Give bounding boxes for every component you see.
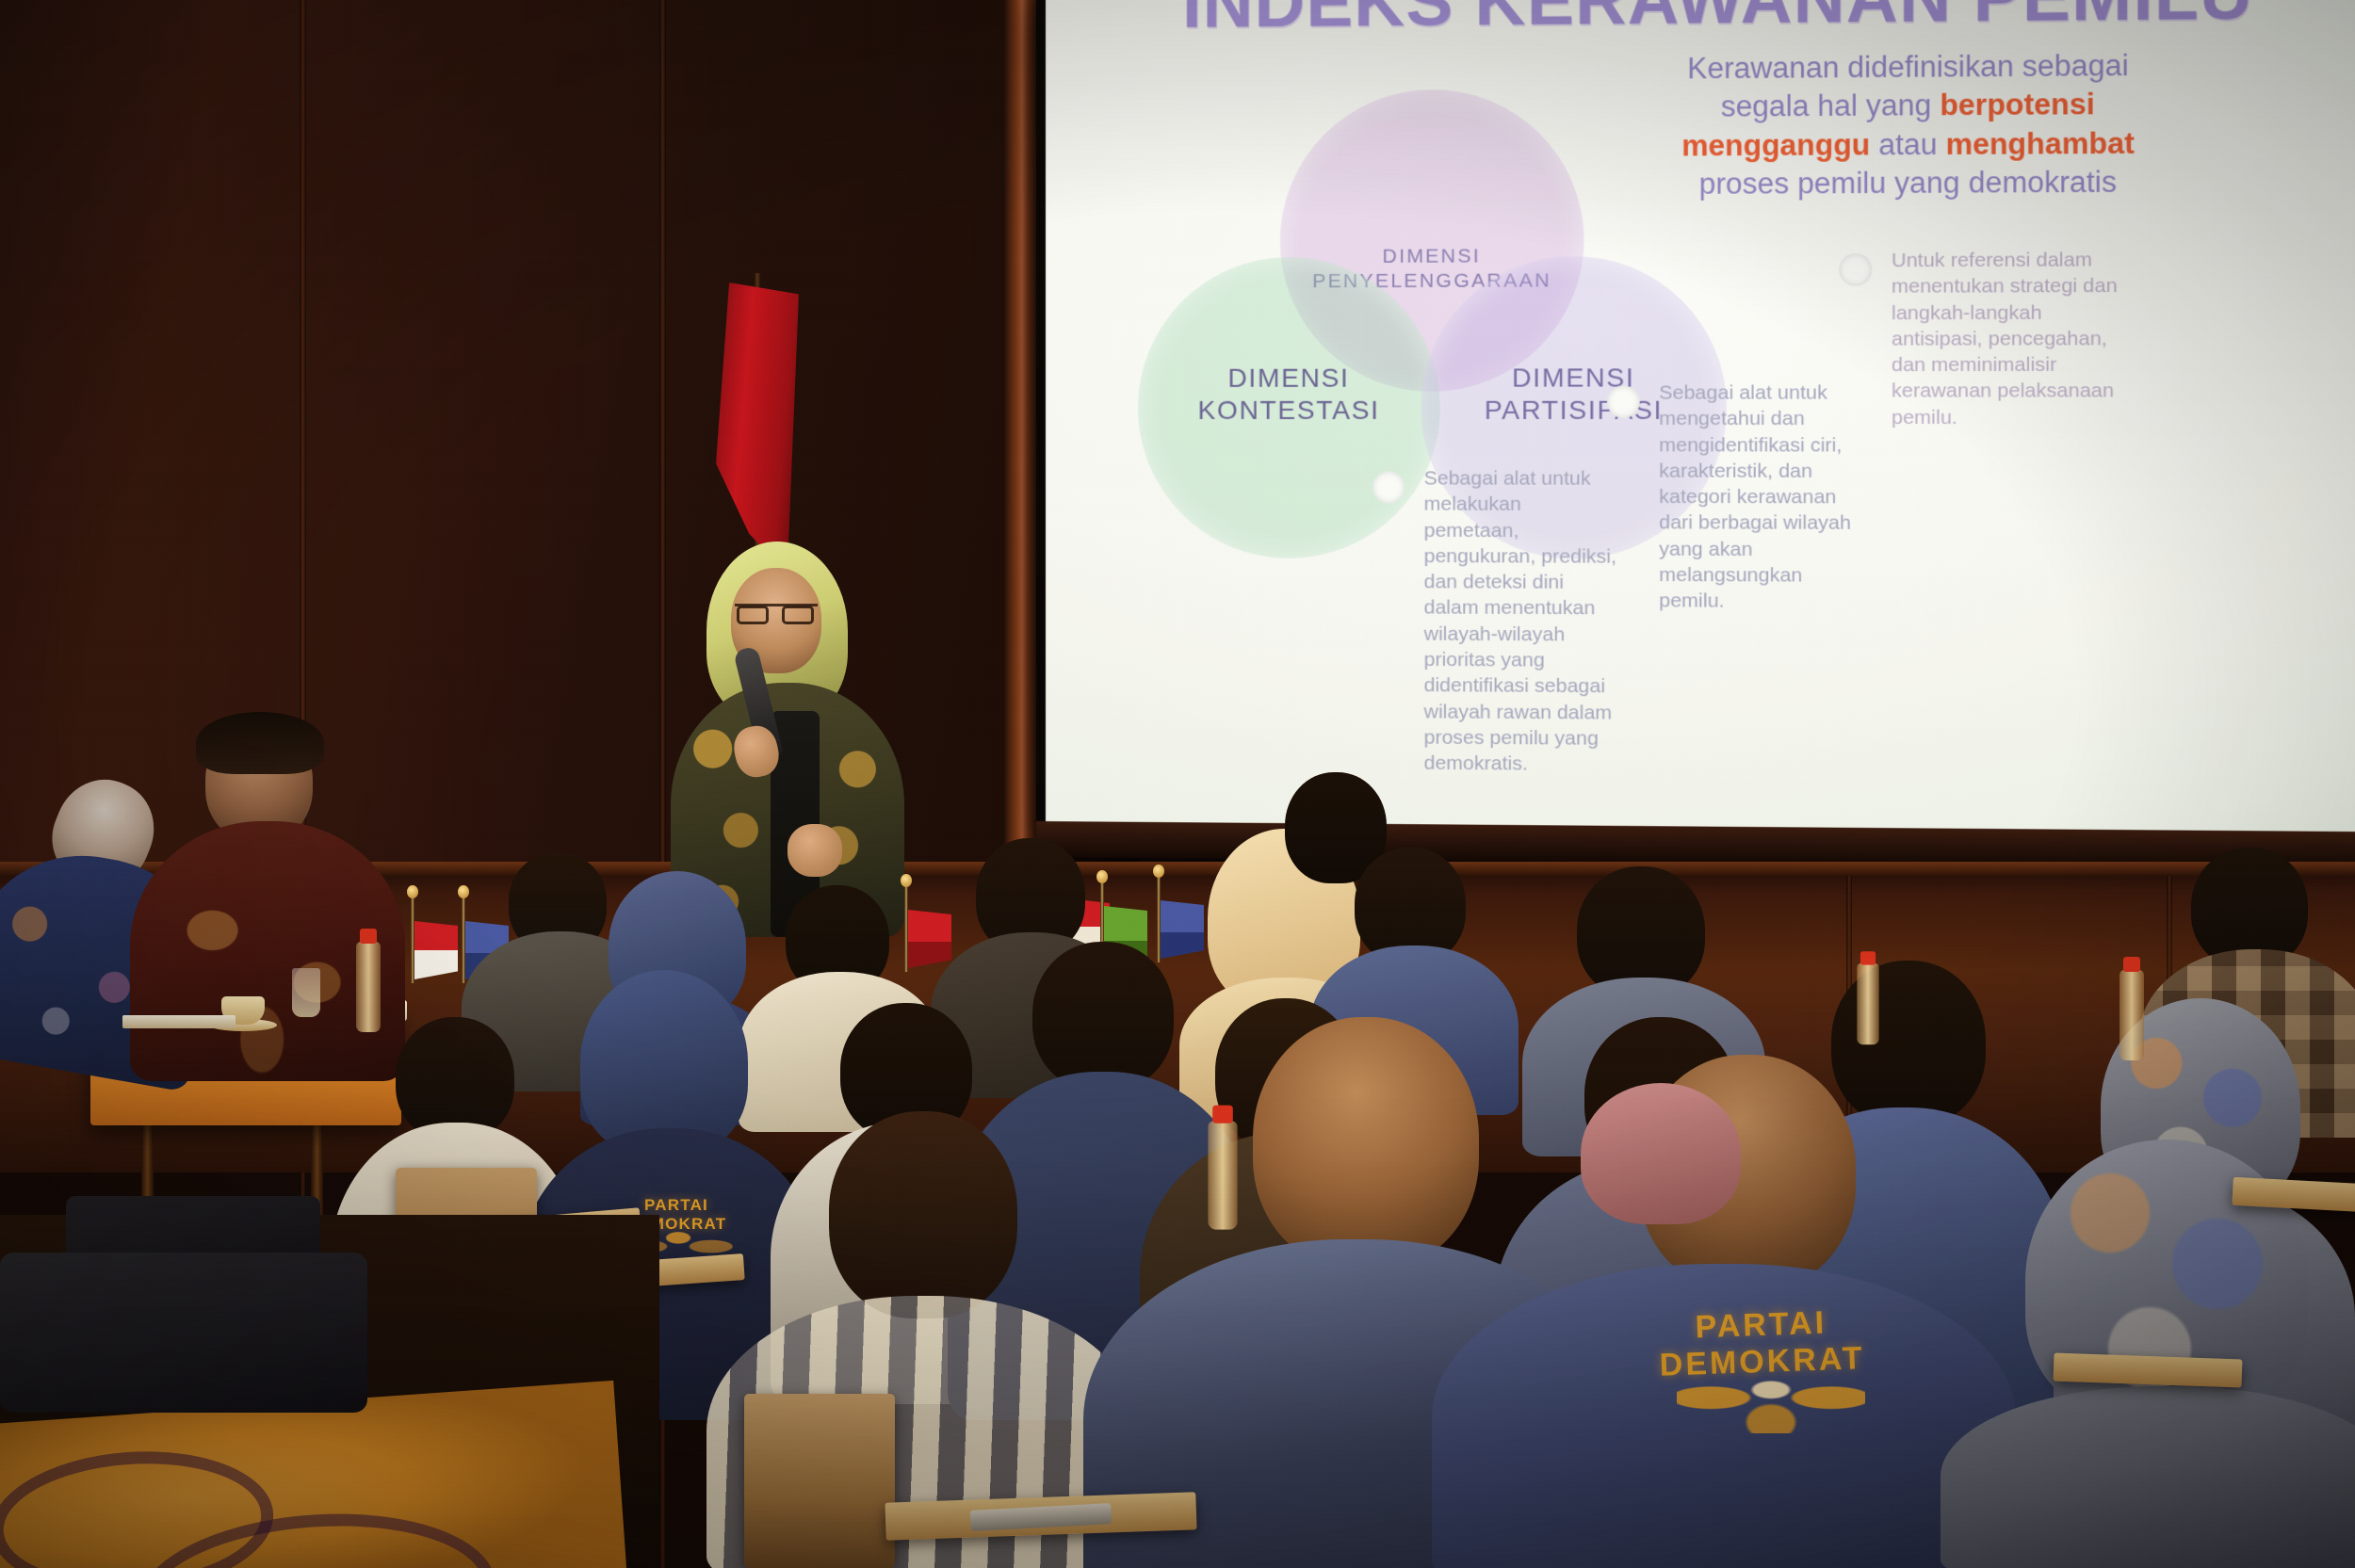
drinking-glass bbox=[292, 968, 320, 1017]
flag-finial bbox=[407, 885, 418, 898]
water-bottle bbox=[2119, 970, 2144, 1060]
flag-cloth bbox=[414, 921, 458, 979]
wall-wood-trim bbox=[1003, 0, 1041, 885]
chair-back bbox=[744, 1394, 895, 1568]
attendee-hijab bbox=[580, 970, 748, 1155]
papers bbox=[122, 1015, 235, 1028]
definition-highlight2: menghambat bbox=[1945, 126, 2134, 161]
garuda-eagle-icon-large bbox=[1677, 1354, 1865, 1433]
speaker-hand-right bbox=[788, 824, 842, 877]
callout-text: Sebagai alat untuk mengetahui dan mengid… bbox=[1659, 380, 1868, 615]
flag-finial bbox=[458, 885, 469, 898]
attendee-head bbox=[1253, 1017, 1479, 1269]
definition-part2: atau bbox=[1870, 127, 1945, 161]
glasses-lens-left bbox=[737, 606, 769, 624]
bullet-circle-icon bbox=[1607, 386, 1640, 418]
slide-callout-referensi: Untuk referensi dalam menentukan strateg… bbox=[1839, 247, 2132, 430]
seminar-photograph: INDEKS KERAWANAN PEMILU DIMENSI PENYELEN… bbox=[0, 0, 2355, 1568]
definition-part3: proses pemilu yang demokratis bbox=[1699, 165, 2117, 201]
attendee-frontrow-demokrat-jacket: PARTAI DEMOKRAT bbox=[1470, 1055, 1978, 1568]
mini-flag-indonesia bbox=[411, 897, 414, 983]
projection-screen: INDEKS KERAWANAN PEMILU DIMENSI PENYELEN… bbox=[1036, 0, 2355, 869]
bullet-circle-icon bbox=[1372, 471, 1405, 503]
slide-title: INDEKS KERAWANAN PEMILU bbox=[1046, 0, 2355, 44]
glasses-lens-right bbox=[782, 606, 814, 624]
slide-definition-text: Kerawanan didefinisikan sebagai segala h… bbox=[1665, 46, 2152, 203]
water-bottle bbox=[1208, 1121, 1237, 1229]
venn-label-line2: KONTESTASI bbox=[1198, 395, 1380, 427]
venn-label-line1: DIMENSI bbox=[1312, 244, 1551, 269]
attendee-pink-cap bbox=[1581, 1083, 1741, 1224]
attendee-torso bbox=[1941, 1386, 2355, 1568]
venn-label-line1: DIMENSI bbox=[1198, 362, 1380, 394]
bullet-circle-icon bbox=[1839, 253, 1872, 286]
callout-text: Untuk referensi dalam menentukan strateg… bbox=[1892, 247, 2132, 430]
slide-callout-pemetaan: Sebagai alat untuk melakukan pemetaan, p… bbox=[1372, 465, 1621, 778]
water-bottle bbox=[1857, 963, 1878, 1044]
flag-finial bbox=[1153, 865, 1164, 878]
mini-flag-blue bbox=[462, 897, 465, 983]
slide-callout-identifikasi: Sebagai alat untuk mengetahui dan mengid… bbox=[1607, 380, 1868, 615]
attendee-head bbox=[829, 1111, 1017, 1318]
callout-text: Sebagai alat untuk melakukan pemetaan, p… bbox=[1424, 465, 1622, 778]
slide-surface: INDEKS KERAWANAN PEMILU DIMENSI PENYELEN… bbox=[1046, 0, 2355, 832]
panelist-right-hair bbox=[196, 712, 324, 774]
floor-mat bbox=[0, 1253, 367, 1413]
